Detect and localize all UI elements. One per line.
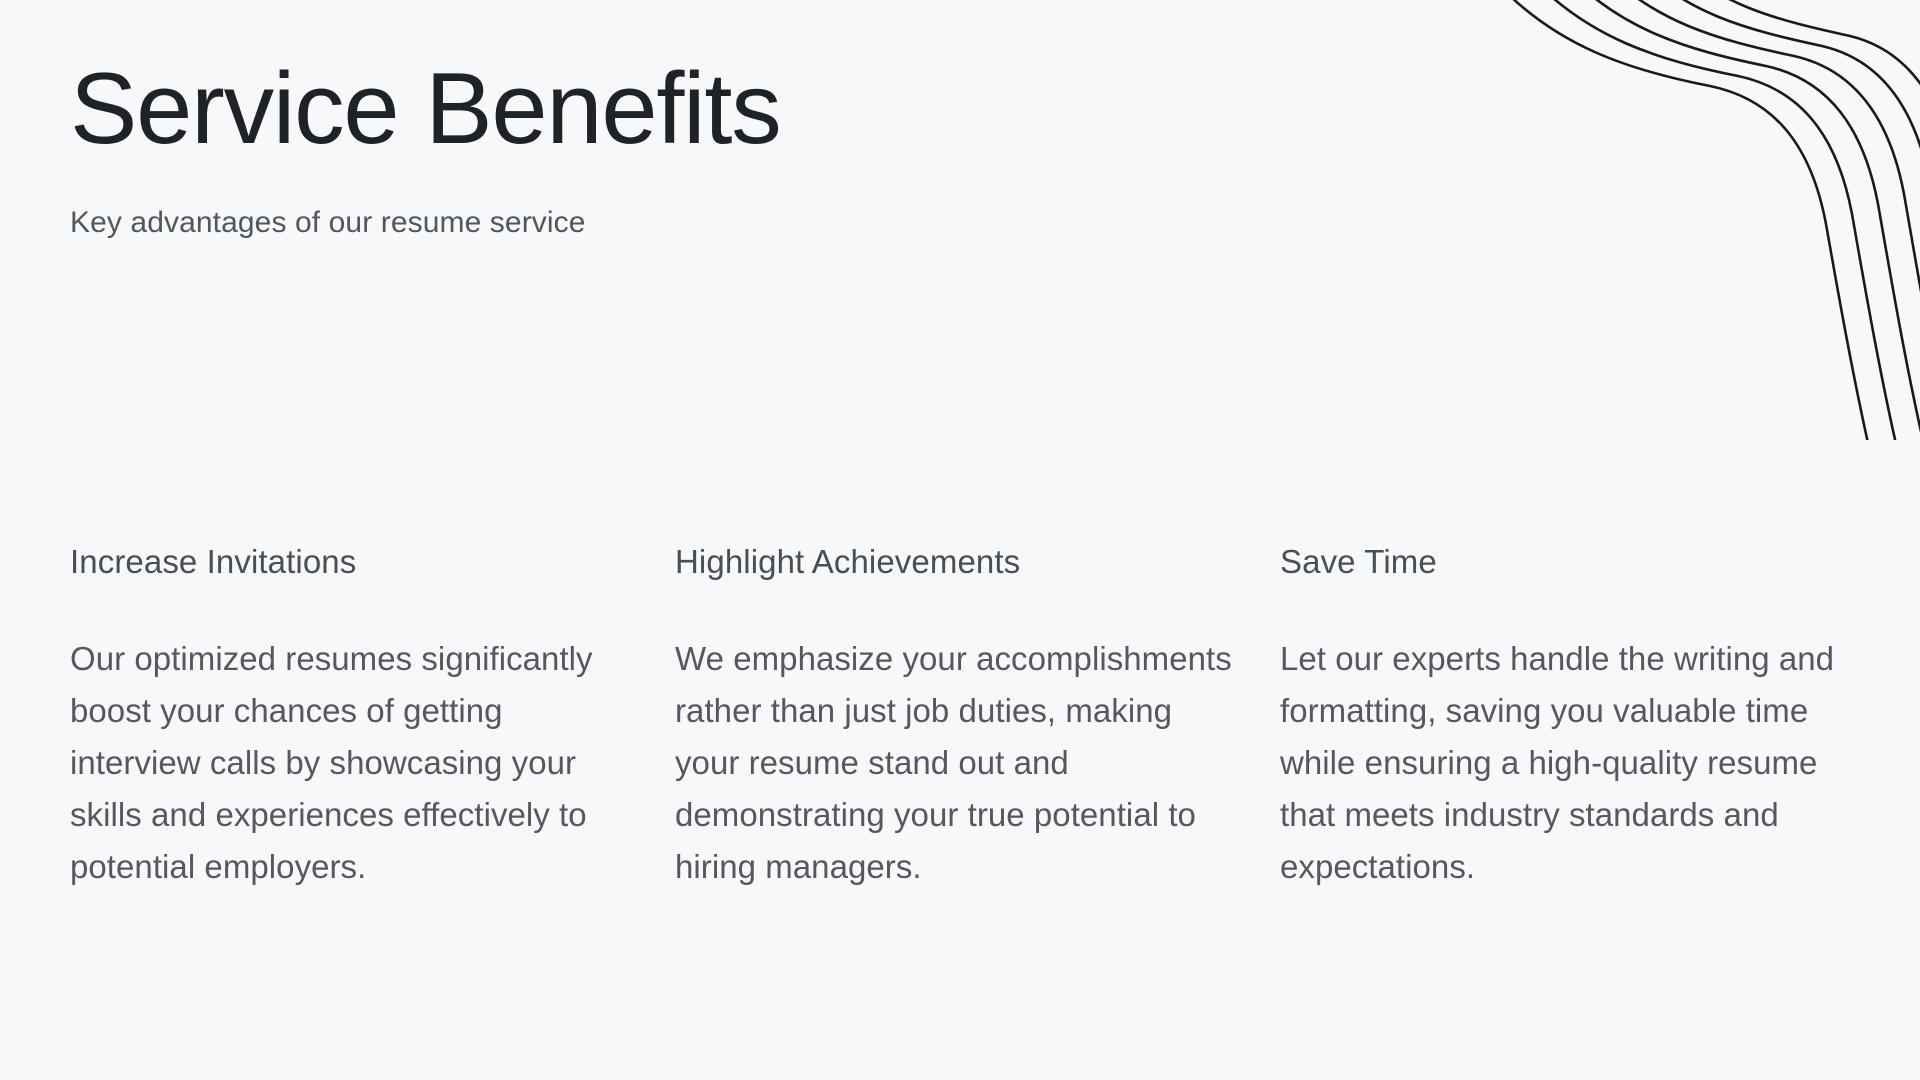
wave-line-4 xyxy=(1598,0,1920,428)
benefit-column-save-time: Save Time Let our experts handle the wri… xyxy=(1280,541,1840,893)
corner-wave-decoration xyxy=(1460,0,1920,440)
benefits-grid: Increase Invitations Our optimized resum… xyxy=(70,541,1850,893)
benefit-title: Save Time xyxy=(1280,541,1840,582)
page-subtitle: Key advantages of our resume service xyxy=(70,203,1170,242)
benefit-title: Increase Invitations xyxy=(70,541,630,582)
wave-line-5 xyxy=(1632,0,1920,420)
wave-lines-svg xyxy=(1460,0,1920,440)
page-title: Service Benefits xyxy=(70,56,1170,163)
benefit-body: Let our experts handle the writing and f… xyxy=(1280,633,1840,893)
wave-line-1 xyxy=(1496,0,1870,440)
wave-line-3 xyxy=(1564,0,1920,436)
benefit-title: Highlight Achievements xyxy=(675,541,1235,582)
benefit-body: Our optimized resumes significantly boos… xyxy=(70,633,630,893)
wave-line-2 xyxy=(1530,0,1896,440)
benefit-column-highlight-achievements: Highlight Achievements We emphasize your… xyxy=(675,541,1235,893)
benefit-body: We emphasize your accomplishments rather… xyxy=(675,633,1235,893)
wave-line-6 xyxy=(1666,0,1920,412)
page-header: Service Benefits Key advantages of our r… xyxy=(70,56,1170,242)
benefit-column-increase-invitations: Increase Invitations Our optimized resum… xyxy=(70,541,630,893)
